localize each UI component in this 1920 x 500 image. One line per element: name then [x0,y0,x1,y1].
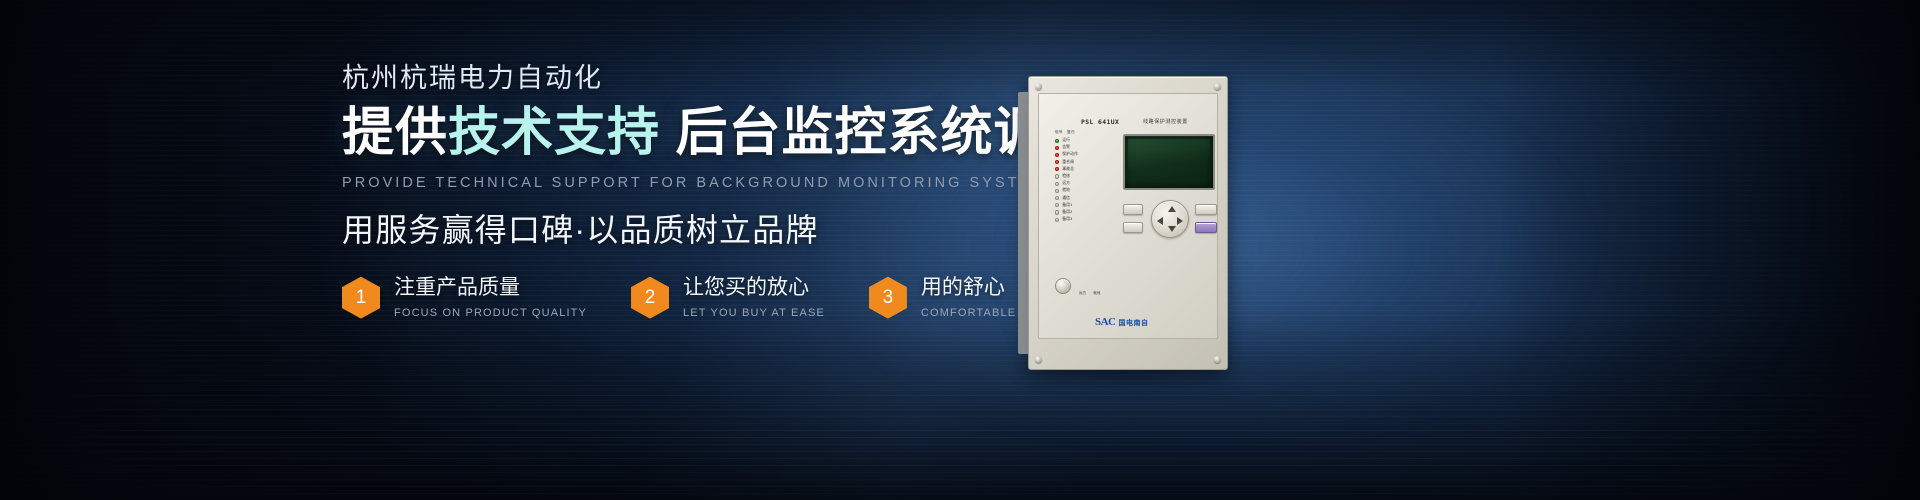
feature-subtitle: LET YOU BUY AT EASE [683,308,825,319]
led-row: 事故总 [1055,166,1115,173]
lcd-glare [1128,139,1210,185]
led-indicator-icon [1055,210,1059,214]
led-indicator-icon [1055,160,1059,164]
led-indicator-icon [1055,189,1059,193]
feature-item-2: 2 让您买的放心 LET YOU BUY AT EASE [631,275,825,319]
screw-icon [1035,356,1042,363]
banner-text-block: 杭州杭瑞电力自动化 提供技术支持 后台监控系统调试 PROVIDE TECHNI… [342,62,982,319]
device-lcd-screen [1123,134,1215,190]
screw-icon [1214,356,1221,363]
led-indicator-icon [1055,182,1059,186]
led-row: 备用3 [1055,216,1115,223]
led-label: 重合闸 [1062,160,1074,165]
led-row: 备用2 [1055,209,1115,216]
feature-title: 注重产品质量 [394,275,587,301]
brand-name-cn: 国电南自 [1119,318,1149,328]
device-inner-panel: PSL 641UX 线路保护测控装置 信号 复归 运行告警保护动作重合闸事故总检… [1038,93,1218,339]
key-confirm[interactable] [1123,222,1143,233]
led-row: 备用1 [1055,202,1115,209]
led-row: 保护动作 [1055,151,1115,158]
feature-item-1: 1 注重产品质量 FOCUS ON PRODUCT QUALITY [342,275,587,319]
hexagon-badge-1: 1 [342,277,380,319]
led-label: 远方 [1062,181,1070,186]
subtitle-english: PROVIDE TECHNICAL SUPPORT FOR BACKGROUND… [342,175,982,191]
key-quit[interactable] [1195,204,1217,215]
led-header-right: 复归 [1067,130,1079,135]
feature-list: 1 注重产品质量 FOCUS ON PRODUCT QUALITY 2 让您买的… [342,275,982,319]
headline-part-one: 提供 [342,104,448,162]
feature-subtitle: FOCUS ON PRODUCT QUALITY [394,308,587,319]
arrow-up-icon[interactable] [1168,206,1176,212]
led-indicator-icon [1055,174,1059,178]
led-indicator-icon [1055,218,1059,222]
key-cancel[interactable] [1123,204,1143,215]
led-header-left: 信号 [1055,130,1067,135]
arrow-left-icon[interactable] [1157,217,1163,225]
knob-label-remote: 远方 [1079,291,1086,296]
led-label: 备用1 [1062,203,1072,208]
hexagon-badge-2: 2 [631,277,669,319]
led-row: 检修 [1055,173,1115,180]
led-label: 备用2 [1062,210,1072,215]
brand-logo: SAC 国电南自 [1095,317,1149,328]
led-indicator-panel: 信号 复归 运行告警保护动作重合闸事故总检修远方就地通信备用1备用2备用3 [1055,130,1115,223]
headline-accent: 技术支持 [448,104,660,162]
led-row: 就地 [1055,187,1115,194]
led-panel-header: 信号 复归 [1055,130,1115,135]
knob-label-group: 远方 就地 [1079,291,1100,296]
led-row: 远方 [1055,180,1115,187]
knob-label-local: 就地 [1093,291,1100,296]
feature-title: 让您买的放心 [683,275,825,301]
led-label: 通信 [1062,196,1070,201]
screw-icon [1035,83,1042,90]
led-indicator-icon [1055,167,1059,171]
led-label: 保护动作 [1062,152,1078,157]
headline: 提供技术支持 后台监控系统调试 [342,104,982,162]
hero-banner: 杭州杭瑞电力自动化 提供技术支持 后台监控系统调试 PROVIDE TECHNI… [0,0,1920,500]
arrow-down-icon[interactable] [1168,226,1176,232]
device-front-panel: PSL 641UX 线路保护测控装置 信号 复归 运行告警保护动作重合闸事故总检… [1028,76,1228,370]
led-label: 就地 [1062,188,1070,193]
mode-selector-knob[interactable] [1055,278,1071,294]
led-row: 重合闸 [1055,159,1115,166]
slogan: 用服务赢得口碑·以品质树立品牌 [342,205,982,251]
led-indicator-icon [1055,139,1059,143]
hexagon-badge-3: 3 [869,277,907,319]
led-row: 通信 [1055,195,1115,202]
led-label: 运行 [1062,138,1070,143]
feature-number: 1 [356,288,367,307]
led-label: 事故总 [1062,167,1074,172]
led-indicator-icon [1055,153,1059,157]
led-label: 检修 [1062,174,1070,179]
brand-mark-text: SAC [1095,317,1116,328]
company-name: 杭州杭瑞电力自动化 [342,62,982,94]
device-model-label: PSL 641UX [1081,118,1119,126]
arrow-right-icon[interactable] [1177,217,1183,225]
led-indicator-icon [1055,196,1059,200]
feature-number: 3 [883,288,894,307]
product-image-relay: PSL 641UX 线路保护测控装置 信号 复归 运行告警保护动作重合闸事故总检… [1018,76,1228,370]
led-row: 运行 [1055,137,1115,144]
led-label: 备用3 [1062,217,1072,222]
led-label: 告警 [1062,145,1070,150]
led-indicator-icon [1055,203,1059,207]
screw-icon [1214,83,1221,90]
led-row: 告警 [1055,144,1115,151]
feature-number: 2 [645,288,656,307]
device-model-label-cn: 线路保护测控装置 [1143,118,1188,125]
device-keypad [1123,202,1217,258]
led-indicator-icon [1055,146,1059,150]
dpad-navigation[interactable] [1151,200,1189,238]
key-reset[interactable] [1195,222,1217,233]
